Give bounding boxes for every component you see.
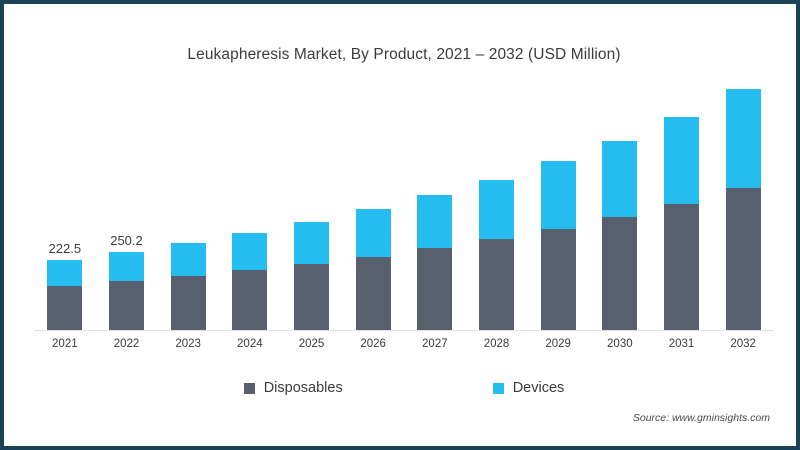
chart-legend: DisposablesDevices (8, 380, 800, 396)
x-tick-2032: 2032 (730, 338, 756, 350)
x-tick-2029: 2029 (545, 338, 571, 350)
bar-segment-disposables-2029[interactable] (541, 229, 576, 330)
bar-segment-devices-2032[interactable] (726, 89, 761, 188)
bar-segment-devices-2029[interactable] (541, 161, 576, 229)
bar-segment-devices-2027[interactable] (417, 195, 452, 248)
bar-group-2024[interactable] (232, 233, 267, 330)
bar-group-2031[interactable] (664, 117, 699, 330)
bar-segment-disposables-2025[interactable] (294, 264, 329, 330)
bar-segment-disposables-2023[interactable] (171, 276, 206, 330)
bar-group-2023[interactable] (171, 243, 206, 330)
x-axis-baseline (34, 330, 774, 332)
legend-label-devices: Devices (513, 380, 565, 396)
x-tick-2026: 2026 (360, 338, 386, 350)
legend-item-disposables[interactable]: Disposables (244, 380, 343, 396)
bar-segment-disposables-2028[interactable] (479, 239, 514, 329)
chart-title: Leukapheresis Market, By Product, 2021 –… (8, 46, 800, 64)
bar-segment-devices-2023[interactable] (171, 243, 206, 276)
legend-swatch-devices (493, 383, 504, 394)
bar-segment-devices-2031[interactable] (664, 117, 699, 204)
bar-group-2032[interactable] (726, 89, 761, 329)
bar-group-2025[interactable] (294, 222, 329, 330)
bar-segment-disposables-2031[interactable] (664, 204, 699, 330)
bar-segment-disposables-2024[interactable] (232, 270, 267, 329)
x-tick-2024: 2024 (237, 338, 263, 350)
bar-segment-devices-2030[interactable] (602, 141, 637, 218)
bar-segment-devices-2021[interactable] (47, 260, 82, 286)
x-tick-2030: 2030 (607, 338, 633, 350)
source-attribution: Source: www.gminsights.com (633, 412, 770, 424)
legend-label-disposables: Disposables (264, 380, 343, 396)
bar-value-label-2022: 250.2 (110, 233, 143, 248)
plot-area: 222.5250.2 (34, 84, 774, 331)
x-tick-2027: 2027 (422, 338, 448, 350)
bar-segment-disposables-2022[interactable] (109, 281, 144, 329)
bar-group-2028[interactable] (479, 180, 514, 330)
chart-figure: Leukapheresis Market, By Product, 2021 –… (0, 0, 800, 450)
bar-group-2026[interactable] (356, 209, 391, 329)
bar-segment-disposables-2027[interactable] (417, 248, 452, 329)
bar-segment-disposables-2032[interactable] (726, 188, 761, 330)
bar-segment-devices-2025[interactable] (294, 222, 329, 264)
bar-group-2022[interactable]: 250.2 (109, 252, 144, 330)
x-tick-2023: 2023 (175, 338, 201, 350)
bar-group-2029[interactable] (541, 161, 576, 329)
bar-segment-devices-2026[interactable] (356, 209, 391, 256)
bar-group-2027[interactable] (417, 195, 452, 329)
bar-group-2030[interactable] (602, 141, 637, 330)
bar-segment-devices-2028[interactable] (479, 180, 514, 240)
x-tick-2021: 2021 (52, 338, 78, 350)
bar-segment-disposables-2030[interactable] (602, 217, 637, 329)
legend-item-devices[interactable]: Devices (493, 380, 565, 396)
bar-segment-devices-2022[interactable] (109, 252, 144, 281)
x-tick-2022: 2022 (114, 338, 140, 350)
bar-segment-devices-2024[interactable] (232, 233, 267, 270)
bar-segment-disposables-2021[interactable] (47, 286, 82, 329)
x-tick-2025: 2025 (299, 338, 325, 350)
chart-canvas: Leukapheresis Market, By Product, 2021 –… (8, 8, 792, 442)
x-axis-tick-labels: 2021202220232024202520262027202820292030… (34, 338, 774, 360)
bar-group-2021[interactable]: 222.5 (47, 260, 82, 329)
legend-swatch-disposables (244, 383, 255, 394)
x-tick-2031: 2031 (669, 338, 695, 350)
bar-segment-disposables-2026[interactable] (356, 257, 391, 330)
bar-value-label-2021: 222.5 (49, 241, 82, 256)
x-tick-2028: 2028 (484, 338, 510, 350)
